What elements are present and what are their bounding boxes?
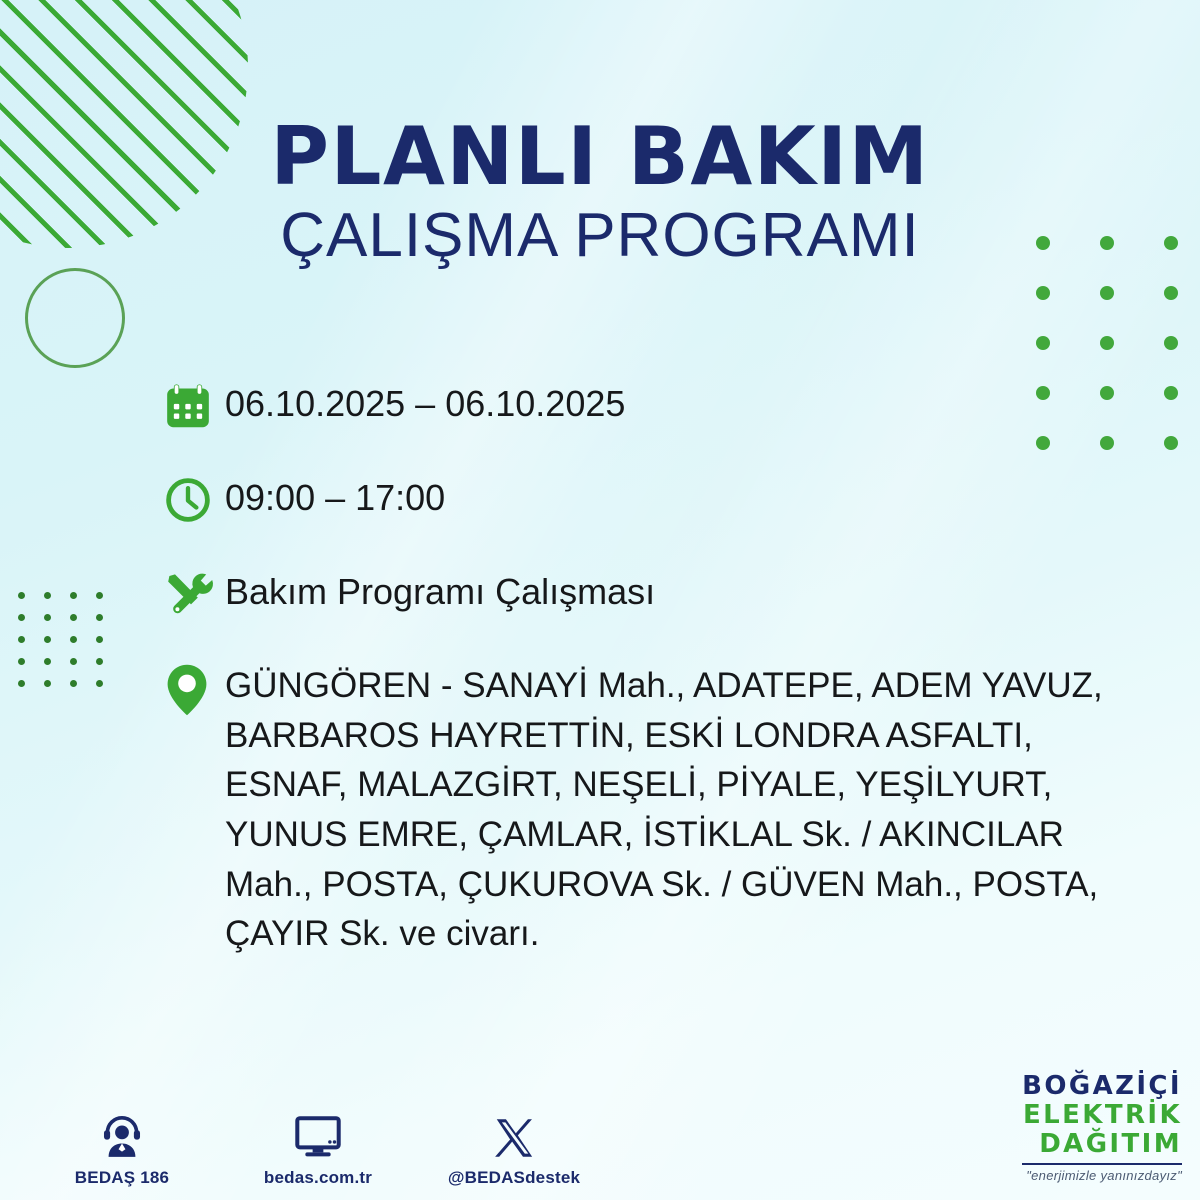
contact-phone-label: BEDAŞ 186 xyxy=(52,1168,192,1188)
work-type-text: Bakım Programı Çalışması xyxy=(225,563,1143,615)
logo-line-bogazici: BOĞAZİÇİ xyxy=(1022,1073,1182,1099)
circle-outline-decoration xyxy=(25,268,125,368)
bedas-logo: BOĞAZİÇİ ELEKTRİK DAĞITIM "enerjimizle y… xyxy=(1022,1073,1182,1182)
support-agent-icon xyxy=(52,1104,192,1160)
logo-line-dagitim: DAĞITIM xyxy=(1022,1131,1182,1157)
dot-grid-left-decoration xyxy=(18,592,122,702)
info-row-date: 06.10.2025 – 06.10.2025 xyxy=(163,375,1143,437)
title-subtitle: ÇALIŞMA PROGRAMI xyxy=(0,204,1200,267)
time-range-text: 09:00 – 17:00 xyxy=(225,469,1143,521)
logo-divider xyxy=(1022,1163,1182,1165)
tools-icon xyxy=(163,563,225,625)
calendar-icon xyxy=(163,375,225,437)
logo-line-elektrik: ELEKTRİK xyxy=(1022,1102,1182,1128)
affected-areas-text: GÜNGÖREN - SANAYİ Mah., ADATEPE, ADEM YA… xyxy=(225,659,1143,959)
contact-x-label: @BEDASdestek xyxy=(444,1168,584,1188)
location-pin-icon xyxy=(163,659,225,721)
logo-tagline: "enerjimizle yanınızdayız" xyxy=(1022,1169,1182,1182)
contact-phone[interactable]: BEDAŞ 186 xyxy=(52,1104,192,1188)
contact-website[interactable]: bedas.com.tr xyxy=(248,1104,388,1188)
info-row-work-type: Bakım Programı Çalışması xyxy=(163,563,1143,625)
contact-channels: BEDAŞ 186 bedas.com.tr xyxy=(52,1104,584,1188)
clock-icon xyxy=(163,469,225,531)
page-title: PLANLI BAKIM ÇALIŞMA PROGRAMI xyxy=(0,118,1200,268)
info-row-location: GÜNGÖREN - SANAYİ Mah., ADATEPE, ADEM YA… xyxy=(163,659,1143,959)
info-list: 06.10.2025 – 06.10.2025 09:00 – 17:00 xyxy=(163,375,1143,987)
contact-website-label: bedas.com.tr xyxy=(248,1168,388,1188)
info-row-time: 09:00 – 17:00 xyxy=(163,469,1143,531)
monitor-icon xyxy=(248,1104,388,1160)
footer: BEDAŞ 186 bedas.com.tr xyxy=(0,1050,1200,1200)
contact-x-social[interactable]: @BEDASdestek xyxy=(444,1104,584,1188)
date-range-text: 06.10.2025 – 06.10.2025 xyxy=(225,375,1143,427)
title-main: PLANLI BAKIM xyxy=(0,118,1200,196)
x-twitter-icon xyxy=(444,1104,584,1160)
planned-maintenance-poster: PLANLI BAKIM ÇALIŞMA PROGRAMI xyxy=(0,0,1200,1200)
